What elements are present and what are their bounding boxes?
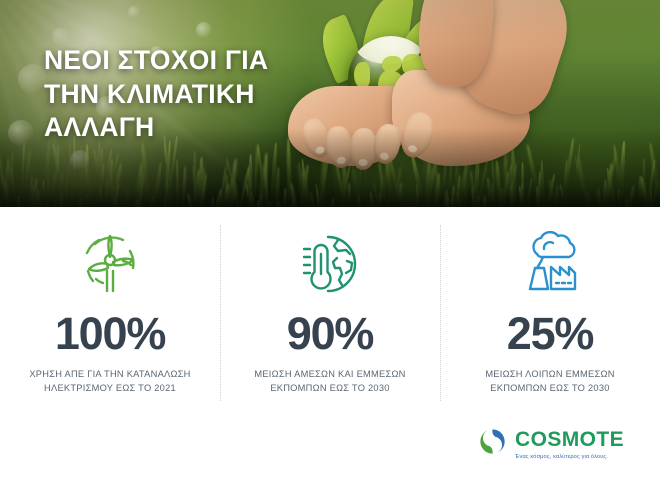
stat-column-direct-emissions: 90% ΜΕΙΩΣΗ ΑΜΕΣΩΝ ΚΑΙ ΕΜΜΕΣΩΝ ΕΚΠΟΜΠΩΝ Ε…: [220, 207, 440, 420]
cosmote-logo[interactable]: COSMOTE Ένας κόσμος, καλύτερος για όλους…: [479, 428, 624, 460]
wind-turbine-icon: [73, 226, 147, 302]
cosmote-wordmark: COSMOTE: [515, 429, 624, 450]
cosmote-tagline: Ένας κόσμος, καλύτερος για όλους.: [515, 454, 624, 460]
footer: COSMOTE Ένας κόσμος, καλύτερος για όλους…: [0, 420, 660, 490]
cosmote-logo-text-wrap: COSMOTE Ένας κόσμος, καλύτερος για όλους…: [515, 429, 624, 460]
stat-caption: ΜΕΙΩΣΗ ΛΟΙΠΩΝ ΕΜΜΕΣΩΝ ΕΚΠΟΜΠΩΝ ΕΩΣ ΤΟ 20…: [485, 367, 614, 396]
factory-emissions-icon: [513, 226, 587, 302]
stat-caption: ΜΕΙΩΣΗ ΑΜΕΣΩΝ ΚΑΙ ΕΜΜΕΣΩΝ ΕΚΠΟΜΠΩΝ ΕΩΣ Τ…: [254, 367, 405, 396]
stat-value: 90%: [287, 311, 373, 356]
stat-column-other-emissions: 25% ΜΕΙΩΣΗ ΛΟΙΠΩΝ ΕΜΜΕΣΩΝ ΕΚΠΟΜΠΩΝ ΕΩΣ Τ…: [440, 207, 660, 420]
hero-headline: ΝΕΟΙ ΣΤΟΧΟΙ ΓΙΑ ΤΗΝ ΚΛΙΜΑΤΙΚΗ ΑΛΛΑΓΗ: [44, 44, 354, 145]
stat-column-renewables: 100% ΧΡΗΣΗ ΑΠΕ ΓΙΑ ΤΗΝ ΚΑΤΑΝΑΛΩΣΗ ΗΛΕΚΤΡ…: [0, 207, 220, 420]
thermometer-globe-icon: [293, 226, 367, 302]
cosmote-swirl-icon: [479, 428, 506, 460]
climate-goals-infographic: ΝΕΟΙ ΣΤΟΧΟΙ ΓΙΑ ΤΗΝ ΚΛΙΜΑΤΙΚΗ ΑΛΛΑΓΗ: [0, 0, 660, 490]
hero-banner: ΝΕΟΙ ΣΤΟΧΟΙ ΓΙΑ ΤΗΝ ΚΛΙΜΑΤΙΚΗ ΑΛΛΑΓΗ: [0, 0, 660, 207]
stat-value: 100%: [55, 311, 165, 356]
stats-row: 100% ΧΡΗΣΗ ΑΠΕ ΓΙΑ ΤΗΝ ΚΑΤΑΝΑΛΩΣΗ ΗΛΕΚΤΡ…: [0, 207, 660, 420]
stat-caption: ΧΡΗΣΗ ΑΠΕ ΓΙΑ ΤΗΝ ΚΑΤΑΝΑΛΩΣΗ ΗΛΕΚΤΡΙΣΜΟΥ…: [29, 367, 190, 396]
stat-value: 25%: [507, 311, 593, 356]
